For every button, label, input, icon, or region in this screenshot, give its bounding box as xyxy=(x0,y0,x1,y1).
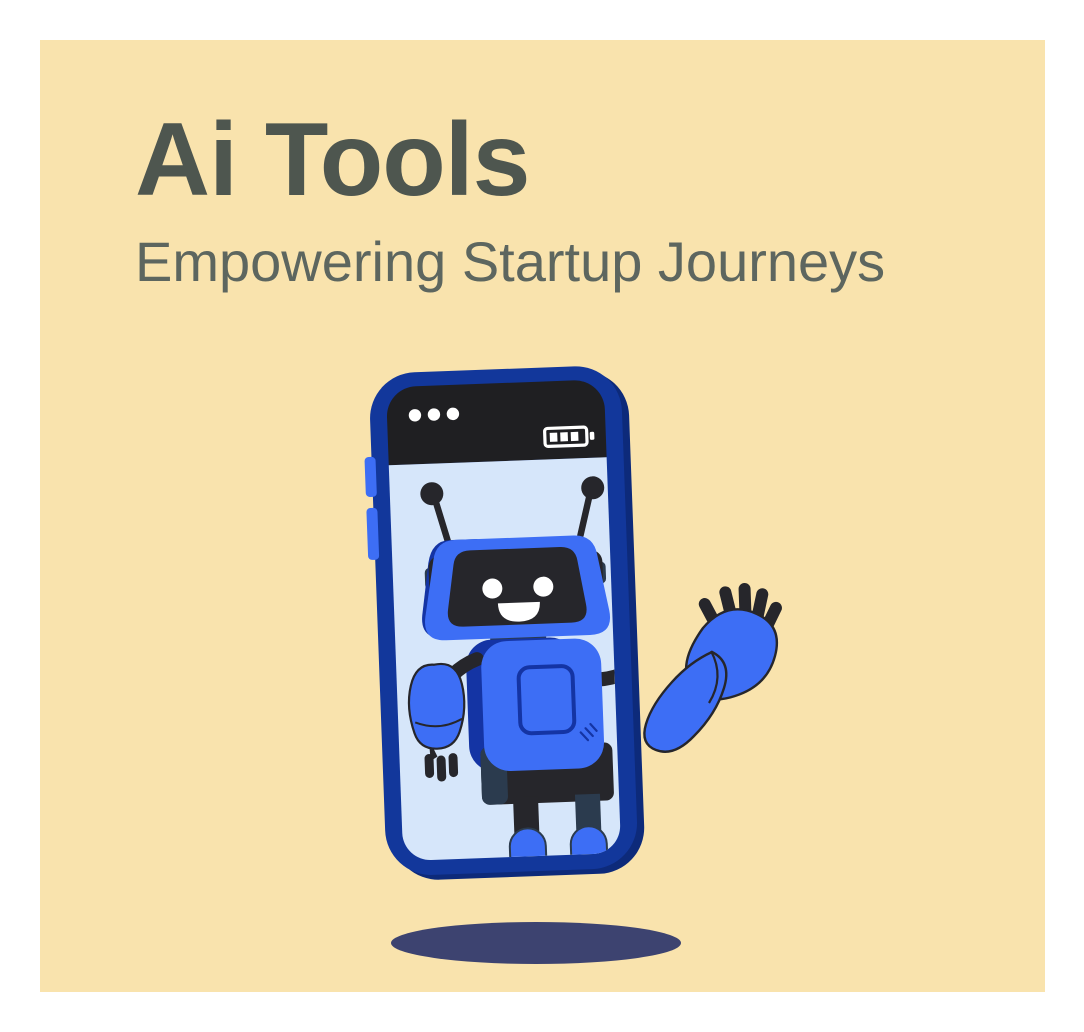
poster-canvas: Ai Tools Empowering Startup Journeys xyxy=(40,40,1045,992)
robot-eye-right xyxy=(533,576,554,597)
phone-side-button-volume-down[interactable] xyxy=(366,508,379,560)
antenna-ball-left xyxy=(420,482,444,506)
camera-dot-3 xyxy=(447,407,460,420)
robot-hips xyxy=(480,742,614,805)
ear-nub-right xyxy=(593,561,606,583)
robot-eye-left xyxy=(482,578,503,599)
headline-block: Ai Tools Empowering Startup Journeys xyxy=(135,108,995,290)
robot-torso xyxy=(480,638,605,772)
robot-torso-shade xyxy=(465,637,580,773)
ground-shadow xyxy=(391,922,681,964)
phone-frame xyxy=(368,365,638,877)
robot-neck xyxy=(490,620,547,660)
robot-chest-panel xyxy=(518,666,574,734)
ear-nub-left xyxy=(425,568,438,590)
robot-foot-right xyxy=(567,825,627,879)
robot-leg-right xyxy=(575,794,602,849)
robot-hip-left-shade xyxy=(480,746,508,805)
phone-side-button-volume-up[interactable] xyxy=(364,457,376,497)
antenna-stem-right xyxy=(579,490,593,535)
robot-head-shade xyxy=(419,539,481,639)
robot-arm-right xyxy=(576,668,632,680)
antenna-stem-left xyxy=(434,495,448,540)
page-subtitle: Empowering Startup Journeys xyxy=(135,234,995,290)
robot-body-group xyxy=(401,475,640,884)
robot-torso-detail-lines xyxy=(580,724,597,741)
battery-icon xyxy=(545,427,595,447)
robot-hand-right-waving xyxy=(644,583,784,752)
robot-ear-right xyxy=(574,550,604,607)
robot-foot-left xyxy=(506,827,566,881)
robot-mouth xyxy=(498,602,541,623)
antenna-ball-right xyxy=(581,476,605,500)
phone-status-bar xyxy=(386,379,607,465)
robot-head xyxy=(422,534,611,641)
robot-leg-left xyxy=(513,796,540,851)
camera-dot-1 xyxy=(409,409,422,422)
robot-arm-left xyxy=(433,659,478,701)
camera-dot-2 xyxy=(428,408,441,421)
robot-hand-left xyxy=(408,663,468,783)
page-title: Ai Tools xyxy=(135,108,995,212)
robot-ear-left xyxy=(428,555,458,612)
phone-frame-shadow xyxy=(376,369,646,881)
phone-screen xyxy=(389,457,621,861)
robot-face-screen xyxy=(446,546,588,627)
